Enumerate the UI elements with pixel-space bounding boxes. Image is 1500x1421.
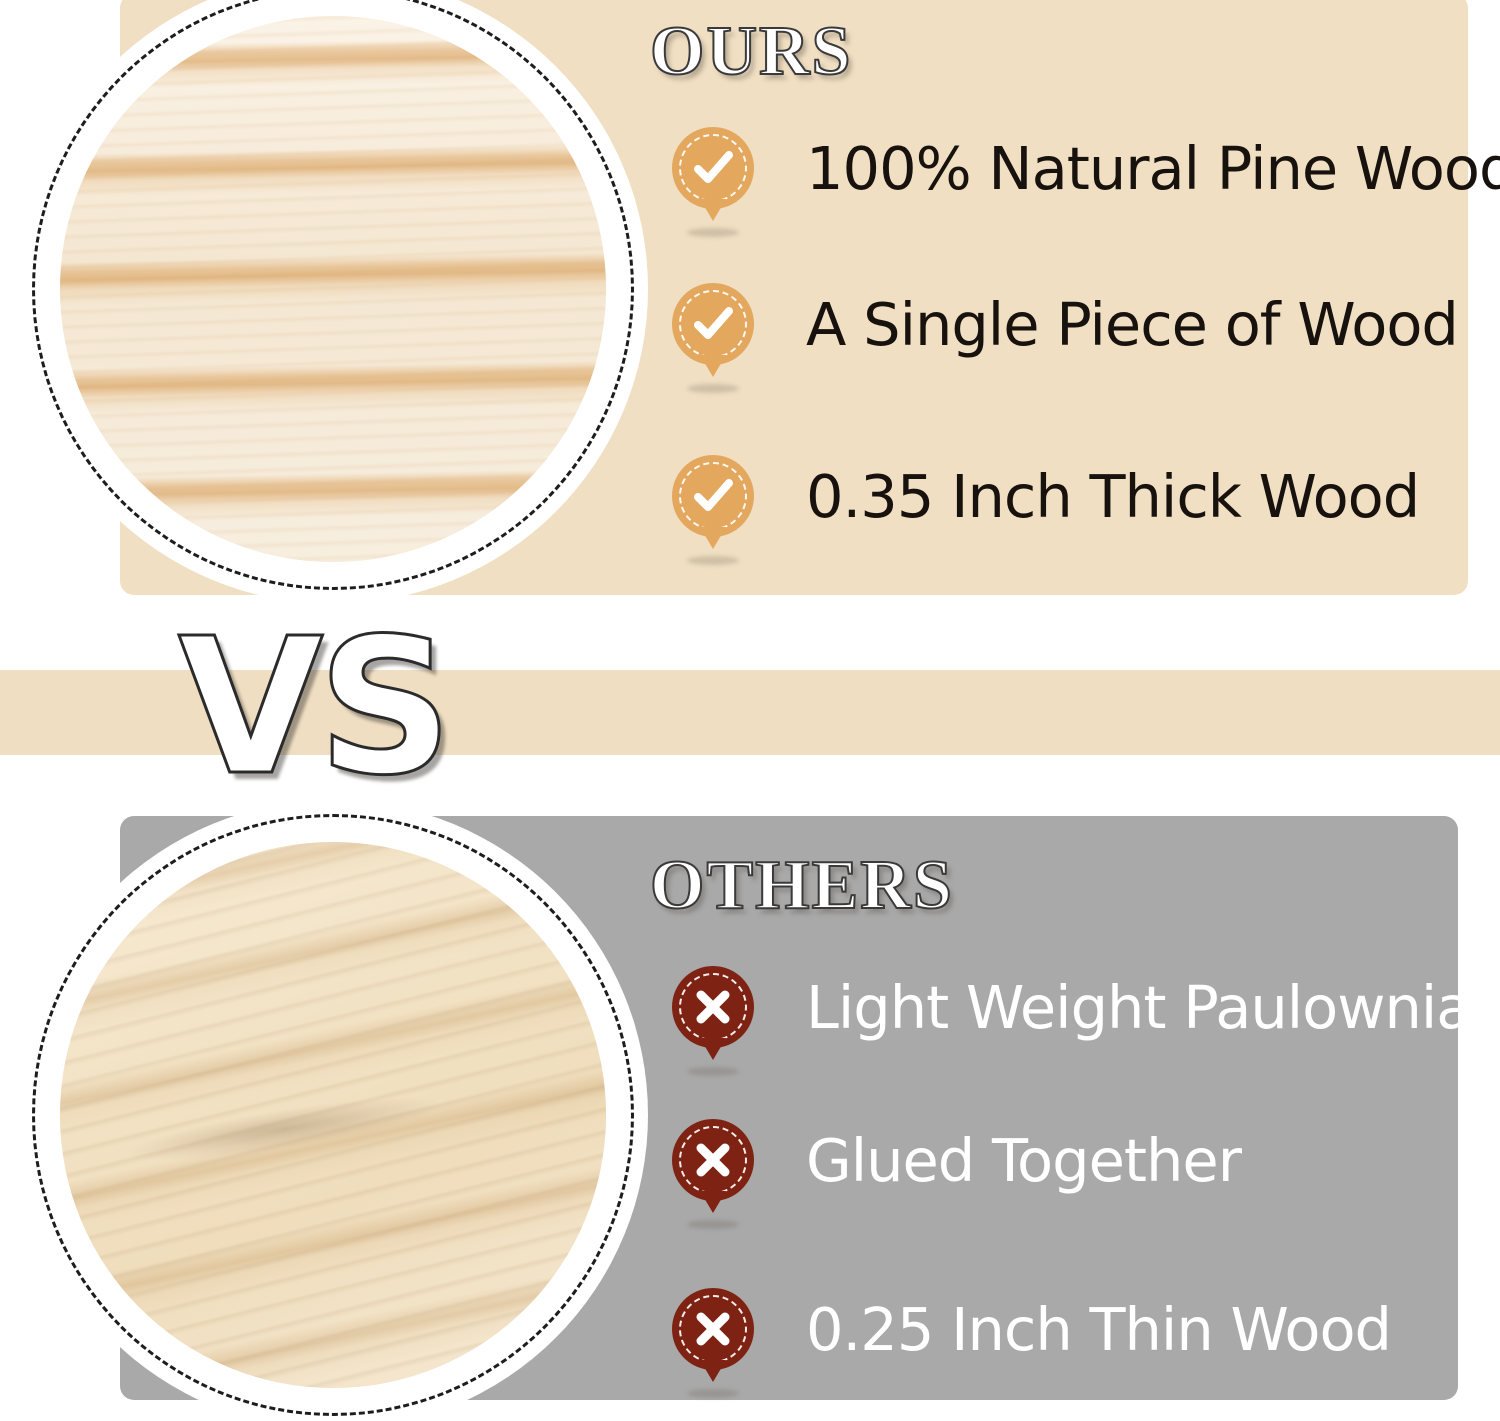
wood-knot-mark [124, 1085, 443, 1172]
comparison-infographic: OURS 100% Natural Pine Wood A Single Pie… [0, 0, 1500, 1421]
cross-icon [672, 1288, 754, 1370]
check-icon [672, 283, 754, 365]
ours-product-image [18, 0, 648, 604]
others-feature-label-2: Glued Together [806, 1131, 1241, 1190]
others-feature-row-2: Glued Together [672, 1119, 1241, 1201]
ours-wood-disc [60, 16, 606, 562]
others-wood-disc [60, 842, 606, 1388]
check-icon [672, 455, 754, 537]
badge-pin-tail [700, 1360, 726, 1382]
ours-feature-label-2: A Single Piece of Wood [806, 295, 1458, 354]
ours-feature-row-3: 0.35 Inch Thick Wood [672, 455, 1419, 537]
check-icon [672, 127, 754, 209]
ours-feature-row-2: A Single Piece of Wood [672, 283, 1458, 365]
others-feature-row-3: 0.25 Inch Thin Wood [672, 1288, 1391, 1370]
paulownia-grain-texture [60, 842, 606, 1388]
badge-pin-shadow [687, 228, 739, 237]
others-section-title: OTHERS [650, 846, 954, 926]
badge-pin-tail [700, 527, 726, 549]
badge-pin-shadow [687, 384, 739, 393]
cross-icon [672, 966, 754, 1048]
others-product-image [18, 800, 648, 1421]
badge-pin-shadow [687, 1067, 739, 1076]
vs-label: VS [178, 614, 447, 802]
ours-feature-row-1: 100% Natural Pine Wood [672, 127, 1500, 209]
badge-pin-tail [700, 1038, 726, 1060]
badge-pin-shadow [687, 556, 739, 565]
ours-feature-label-1: 100% Natural Pine Wood [806, 139, 1500, 198]
badge-pin-tail [700, 199, 726, 221]
ours-section-title: OURS [650, 12, 852, 92]
badge-pin-shadow [687, 1220, 739, 1229]
others-feature-row-1: Light Weight Paulownia [672, 966, 1471, 1048]
others-feature-label-1: Light Weight Paulownia [806, 978, 1471, 1037]
badge-pin-tail [700, 355, 726, 377]
badge-pin-shadow [687, 1389, 739, 1398]
badge-pin-tail [700, 1191, 726, 1213]
others-feature-label-3: 0.25 Inch Thin Wood [806, 1300, 1391, 1359]
pine-grain-texture [60, 16, 606, 562]
ours-feature-label-3: 0.35 Inch Thick Wood [806, 467, 1419, 526]
cross-icon [672, 1119, 754, 1201]
